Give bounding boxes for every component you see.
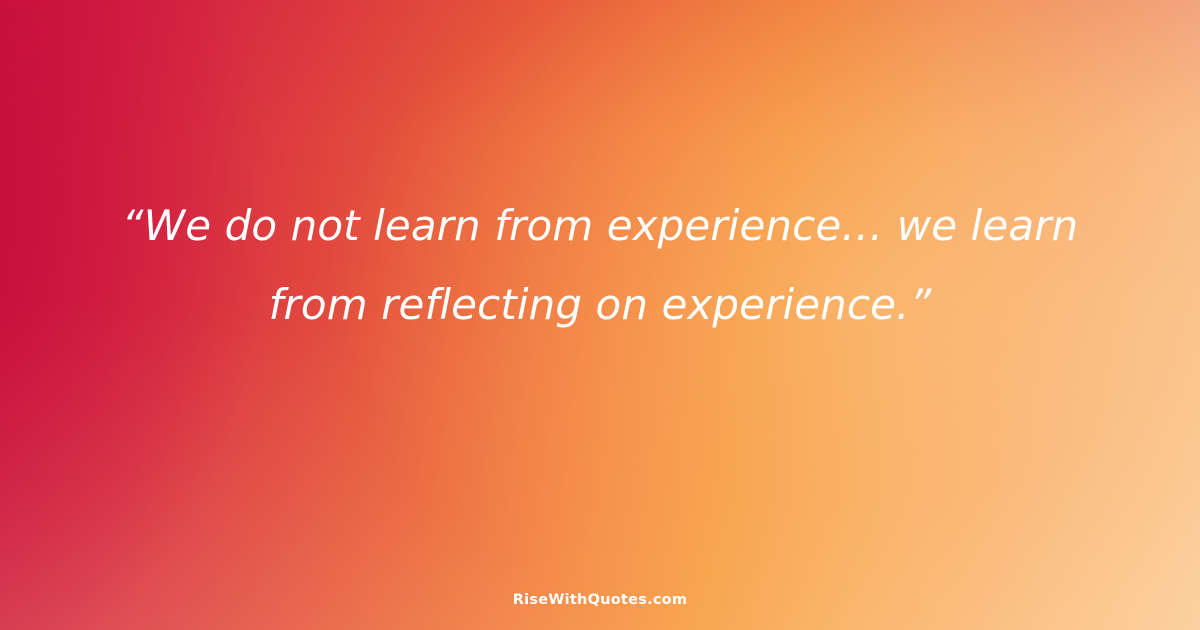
footer-site-name: RiseWithQuotes.com bbox=[513, 592, 688, 608]
quote-text: “We do not learn from experience… we lea… bbox=[86, 186, 1114, 344]
quote-card: “We do not learn from experience… we lea… bbox=[0, 0, 1200, 630]
quote-block: “We do not learn from experience… we lea… bbox=[0, 186, 1200, 344]
footer: RiseWithQuotes.com bbox=[0, 589, 1200, 608]
